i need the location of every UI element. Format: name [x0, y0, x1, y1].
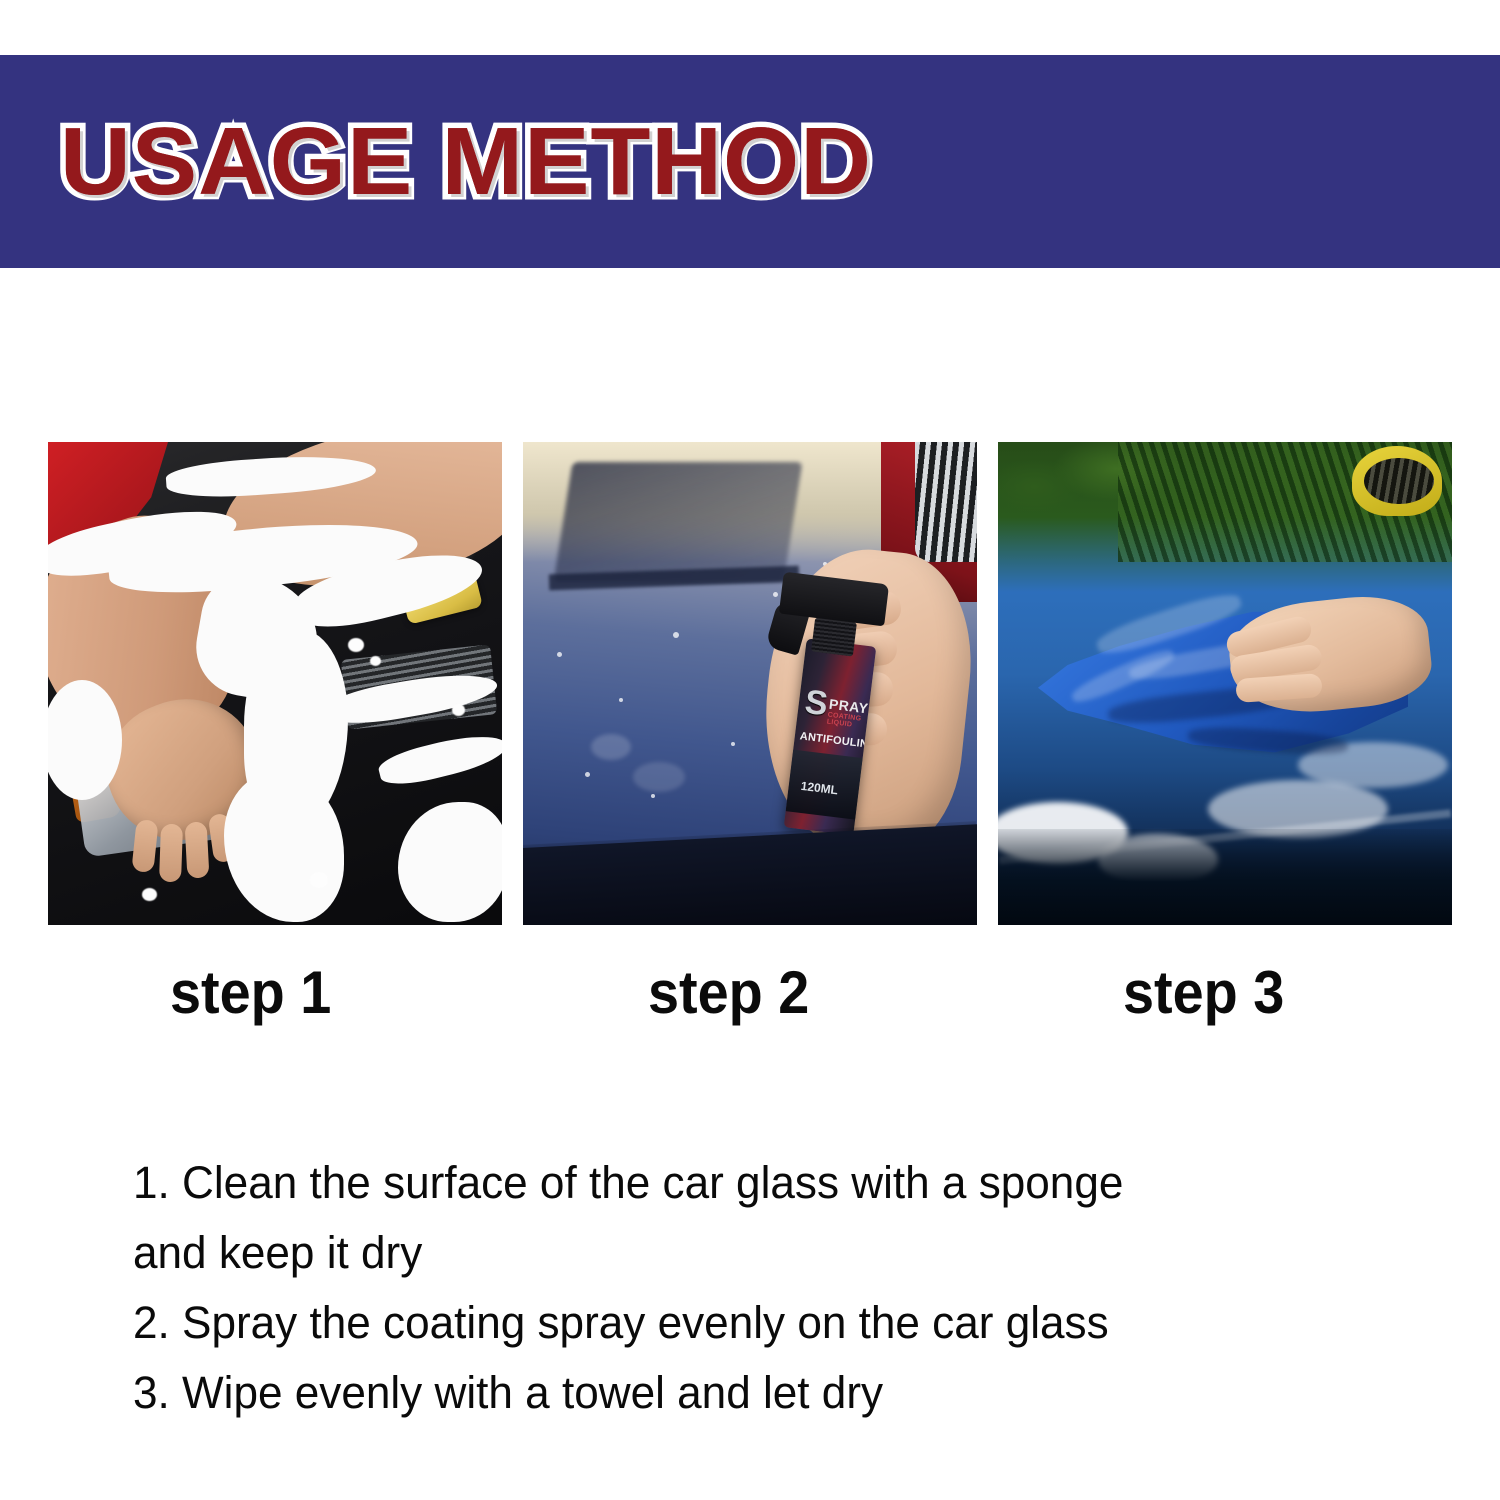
hood-shadow — [998, 829, 1452, 925]
smudge — [591, 734, 631, 760]
finger — [131, 819, 158, 873]
bubble — [348, 638, 364, 652]
usage-method-infographic: USAGE METHOD USAGE METHOD — [0, 0, 1500, 1500]
bubble — [142, 888, 157, 901]
water-speck — [731, 742, 735, 746]
bucket-interior — [1364, 458, 1434, 504]
header-band: USAGE METHOD USAGE METHOD — [0, 55, 1500, 268]
step-1-caption: step 1 — [170, 958, 331, 1028]
finger — [185, 821, 210, 878]
water-speck — [585, 772, 590, 777]
bubble — [310, 872, 328, 888]
hood-dark — [523, 821, 977, 925]
step-3-photo — [998, 442, 1452, 925]
foam — [398, 802, 502, 922]
instruction-line-1: 1. Clean the surface of the car glass wi… — [133, 1148, 1397, 1218]
step-2-caption: step 2 — [648, 958, 809, 1028]
water-speck — [557, 652, 562, 657]
water-speck — [673, 632, 679, 638]
instruction-line-3: 3. Wipe evenly with a towel and let dry — [133, 1358, 1397, 1428]
bubble — [370, 656, 381, 666]
instructions-list: 1. Clean the surface of the car glass wi… — [133, 1148, 1423, 1428]
bottle-logo-s: S — [803, 687, 829, 720]
page-title: USAGE METHOD — [60, 114, 872, 210]
bottle-collar — [811, 618, 857, 657]
step-3-caption: step 3 — [1123, 958, 1284, 1028]
water-speck — [619, 698, 623, 702]
windshield-reflection — [553, 462, 802, 582]
step-1-photo — [48, 442, 502, 925]
step-photo-row: S PRAY COATING LIQUID ANTIFOULING 120ML — [48, 442, 1452, 925]
bubble — [452, 704, 465, 716]
finger — [159, 824, 183, 883]
instruction-line-2: 2. Spray the coating spray evenly on the… — [133, 1288, 1397, 1358]
water-speck — [773, 592, 778, 597]
foam — [376, 727, 502, 791]
smudge — [633, 762, 685, 792]
water-speck — [651, 794, 655, 798]
step-2-photo: S PRAY COATING LIQUID ANTIFOULING 120ML — [523, 442, 977, 925]
instruction-line-1-cont: and keep it dry — [133, 1218, 1397, 1288]
background-car-grille — [915, 442, 977, 562]
step-caption-row: step 1 step 2 step 3 — [48, 958, 1452, 1030]
